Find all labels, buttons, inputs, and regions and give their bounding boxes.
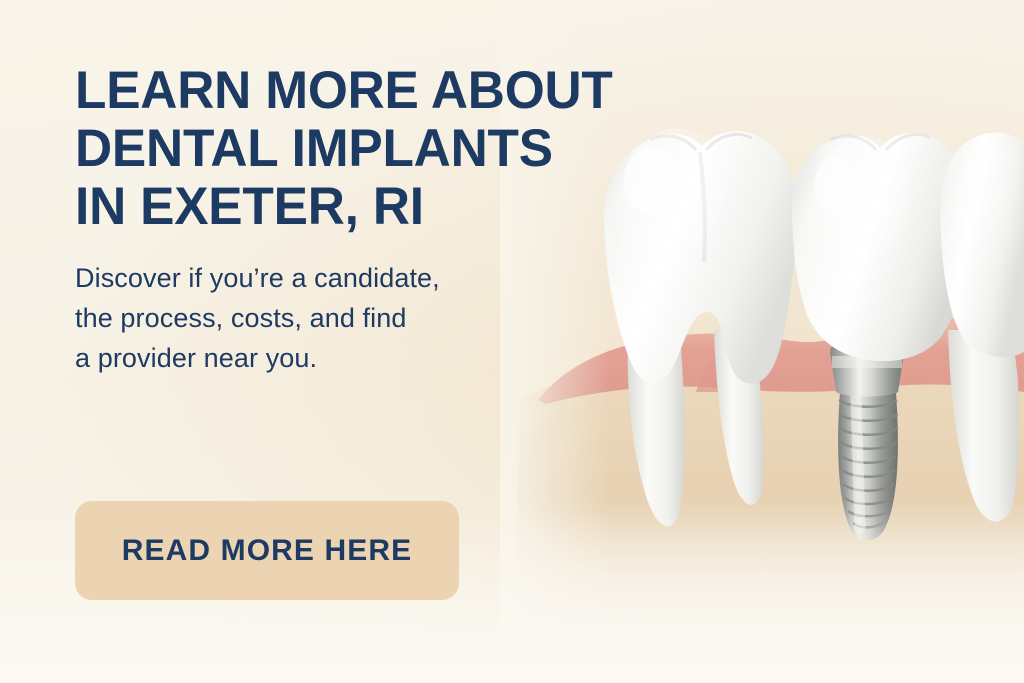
- page-title: LEARN MORE ABOUT DENTAL IMPLANTS IN EXET…: [75, 62, 618, 235]
- banner-subcopy: Discover if you’re a candidate, the proc…: [75, 259, 635, 379]
- read-more-here-button[interactable]: READ MORE HERE: [75, 501, 459, 600]
- dental-implants-promo-banner: LEARN MORE ABOUT DENTAL IMPLANTS IN EXET…: [0, 0, 1024, 683]
- banner-copy-block: LEARN MORE ABOUT DENTAL IMPLANTS IN EXET…: [75, 62, 635, 379]
